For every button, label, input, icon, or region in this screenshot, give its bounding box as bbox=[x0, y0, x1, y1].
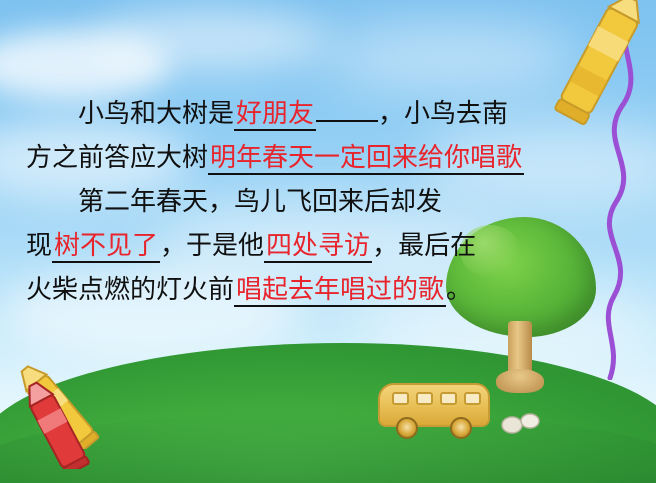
text-run: 。 bbox=[446, 275, 472, 305]
text-run: 火柴点燃的灯火前 bbox=[26, 275, 234, 305]
text-run: ，小鸟去南 bbox=[378, 99, 508, 129]
text-run: 现 bbox=[26, 231, 52, 261]
answer-fill-5[interactable]: 唱起去年唱过的歌 bbox=[234, 275, 446, 307]
red-crayon bbox=[4, 359, 134, 469]
bus-wheel bbox=[396, 417, 418, 439]
exercise-text: 小鸟和大树是好朋友，小鸟去南 方之前答应大树明年春天一定回来给你唱歌 第二年春天… bbox=[0, 92, 656, 312]
bus-window bbox=[464, 392, 481, 405]
text-line-5: 火柴点燃的灯火前唱起去年唱过的歌。 bbox=[26, 268, 630, 312]
cloud-shape bbox=[90, 10, 330, 70]
text-run: ，于是他 bbox=[160, 231, 264, 261]
bus-window bbox=[416, 392, 433, 405]
bus-wheel bbox=[450, 417, 472, 439]
pebbles-illustration bbox=[500, 409, 548, 435]
text-line-2: 方之前答应大树明年春天一定回来给你唱歌 bbox=[26, 136, 630, 180]
tree-trunk bbox=[508, 321, 532, 391]
answer-fill-3[interactable]: 树不见了 bbox=[52, 231, 160, 263]
text-run: 小鸟和大树是 bbox=[78, 99, 234, 129]
text-line-3: 第二年春天，鸟儿飞回来后却发 bbox=[26, 180, 630, 224]
text-run: 第二年春天，鸟儿飞回来后却发 bbox=[78, 187, 442, 217]
text-line-1: 小鸟和大树是好朋友，小鸟去南 bbox=[26, 92, 630, 136]
answer-blank-trailing[interactable] bbox=[316, 120, 378, 122]
bus-window bbox=[440, 392, 457, 405]
bus-body bbox=[378, 383, 490, 427]
school-bus-illustration bbox=[378, 383, 490, 439]
bus-window bbox=[392, 392, 409, 405]
answer-fill-1[interactable]: 好朋友 bbox=[234, 99, 316, 131]
text-line-4: 现树不见了，于是他四处寻访，最后在 bbox=[26, 224, 630, 268]
answer-fill-2[interactable]: 明年春天一定回来给你唱歌 bbox=[208, 143, 524, 175]
text-run: 方之前答应大树 bbox=[26, 143, 208, 173]
slide-canvas: 小鸟和大树是好朋友，小鸟去南 方之前答应大树明年春天一定回来给你唱歌 第二年春天… bbox=[0, 0, 656, 483]
answer-fill-4[interactable]: 四处寻访 bbox=[264, 231, 372, 263]
text-run: ，最后在 bbox=[372, 231, 476, 261]
